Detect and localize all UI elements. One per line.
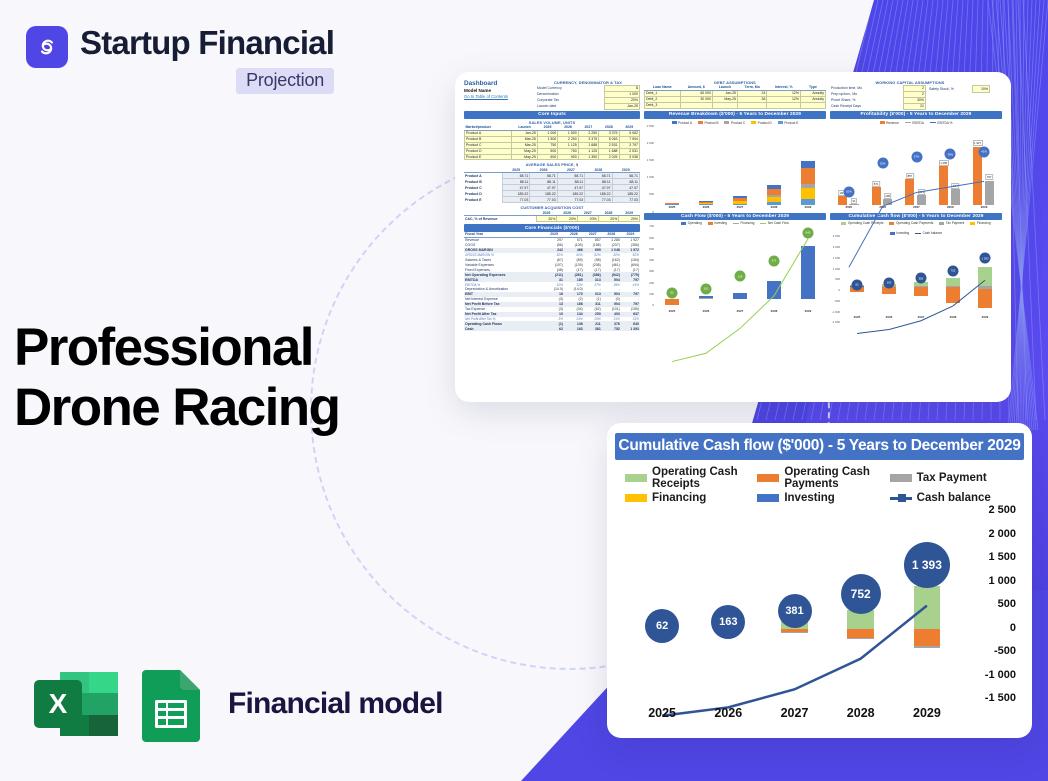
legend-item: Net Cash Flow — [760, 221, 788, 225]
volume-cell: 900 — [558, 154, 578, 160]
axis-tick: 1 000 — [833, 267, 840, 271]
axis-category: 2027 — [723, 205, 757, 212]
launch-cell: May-25 — [512, 154, 537, 160]
price-cell: 77.03 — [612, 197, 639, 203]
wc-extra-value: 10% — [973, 86, 990, 93]
axis-category: 2029 — [791, 309, 825, 316]
legend-item: Operating Cash Receipts — [625, 466, 751, 490]
legend-swatch — [760, 223, 766, 224]
table-row: Debt_3 — [645, 102, 826, 108]
value-cell: 752 — [602, 326, 621, 331]
chart-title: Cumulative Cash flow ($'000) - 5 Years t… — [615, 433, 1024, 460]
data-point-label: 752 — [841, 574, 881, 614]
debt-cell — [713, 102, 738, 108]
legend-label: Financing — [652, 492, 706, 504]
axis-tick: -1 000 — [985, 669, 1016, 681]
legend-label: Financing — [741, 221, 755, 225]
core-financials-table: Fiscal Year20252026202720282029 Revenue2… — [464, 232, 640, 331]
data-point-label: 39% — [945, 149, 956, 160]
axis-tick: 1 500 — [988, 551, 1016, 563]
axis-tick: 2 500 — [833, 234, 840, 238]
brand-lockup: Startup Financial Projection — [26, 26, 334, 94]
axis-category: 2029 — [791, 205, 825, 212]
row-label: Cash — [464, 326, 544, 331]
axis-category: 2028 — [757, 205, 791, 212]
legend-label: EBITDA % — [937, 121, 952, 125]
axis-tick: 2 500 — [988, 504, 1016, 516]
data-point-label: 32% — [877, 158, 888, 169]
product-name: Product E — [465, 154, 512, 160]
legend-swatch — [757, 494, 779, 502]
data-point-label: 41% — [979, 146, 990, 157]
legend-swatch — [778, 121, 783, 124]
legend-item: Tax Payment — [890, 466, 1016, 490]
profitability-chart: 297315711858573131 2855041 92779710%32%3… — [830, 126, 1002, 212]
wc-label: Cash Receipt Days — [830, 103, 904, 109]
cac-cell: 20% — [598, 216, 619, 222]
axis-category: 2026 — [689, 309, 723, 316]
revenue-breakdown-title: Revenue Breakdown ($'000) - 5 Years to D… — [644, 111, 826, 119]
axis-category: 2027 — [900, 205, 934, 212]
data-point-label: 371 — [769, 255, 780, 266]
bar-segment — [801, 188, 816, 199]
axis-category: 2026 — [689, 205, 723, 212]
cash-flow-title: Cash Flow ($'000) - 5 Years to December … — [644, 213, 826, 221]
legend-label: Product E — [784, 121, 798, 125]
table-row: Product E77.0377.0377.0377.0377.03 — [464, 197, 640, 203]
value-cell: 1 393 — [621, 326, 640, 331]
legend-label: Operating Cash Payments — [784, 466, 883, 490]
legend-swatch — [724, 121, 729, 124]
legend-label: Cash balance — [917, 492, 991, 504]
cac-table: 20252026202720282029 CAC, % of Revenue20… — [464, 210, 640, 222]
legend-item: Product A — [672, 121, 692, 125]
axis-category: 2025 — [655, 309, 689, 316]
data-point-label: 381 — [916, 273, 927, 284]
legend-item: Financing — [733, 221, 754, 225]
bar-segment — [801, 168, 816, 184]
data-point-label: 640 — [803, 227, 814, 238]
axis-category: 2027 — [905, 315, 937, 322]
legend-item: Product D — [751, 121, 772, 125]
axis-tick: 0 — [1010, 622, 1016, 634]
axis-tick: 300 — [649, 269, 654, 273]
axis-tick: 0 — [652, 303, 654, 307]
cac-label: CAC, % of Revenue — [464, 216, 536, 222]
volume-cell: 600 — [537, 154, 557, 160]
dashboard-screenshot-card: Dashboard Model Name Go to Table of Cont… — [455, 72, 1011, 402]
chart-plot-area: 621633817521 393 2 5002 0001 5001 000500… — [615, 510, 1024, 728]
axis-category: 2026 — [873, 315, 905, 322]
axis-tick: 600 — [649, 236, 654, 240]
axis-tick: 1 500 — [833, 256, 840, 260]
legend-item: EBITDA — [905, 121, 924, 125]
legend-label: Product B — [704, 121, 718, 125]
axis-tick: 1 000 — [988, 575, 1016, 587]
legend-label: Product C — [731, 121, 745, 125]
value-cell: 163 — [564, 326, 584, 331]
chart-bars: 621633817521 393 — [629, 514, 960, 698]
chart-legend: Operating Cash ReceiptsOperating Cash Pa… — [615, 460, 1024, 508]
legend-item: Operating Cash Payments — [757, 466, 883, 490]
axis-tick: 2 500 — [647, 124, 654, 128]
axis-category: 2026 — [695, 706, 761, 720]
axis-tick: 500 — [649, 247, 654, 251]
axis-tick: 0 — [838, 288, 840, 292]
axis-category: 2028 — [828, 706, 894, 720]
data-point-label: 101 — [701, 283, 712, 294]
axis-tick: -1 000 — [832, 310, 840, 314]
data-point-label: 1 393 — [980, 253, 991, 264]
currency-value: Jan-25 — [605, 103, 640, 109]
legend-item: Product C — [724, 121, 745, 125]
data-point-label: 37% — [911, 151, 922, 162]
axis-tick: 500 — [649, 192, 654, 196]
avg-price-table: 20252026202720282029 Product A58.7158.71… — [464, 167, 640, 203]
debt-cell — [767, 102, 801, 108]
legend-swatch — [625, 494, 647, 502]
legend-line-swatch — [890, 497, 912, 500]
legend-item: Product B — [698, 121, 719, 125]
e-loop-icon — [26, 26, 68, 68]
price-cell: 77.03 — [557, 197, 584, 203]
axis-category: 2025 — [841, 315, 873, 322]
cac-cell: 20% — [536, 216, 557, 222]
axis-category: 2027 — [761, 706, 827, 720]
legend-item: Investing — [708, 221, 727, 225]
chart-x-axis: 20252026202720282029 — [629, 700, 960, 726]
legend-swatch — [698, 121, 703, 124]
legend-swatch — [672, 121, 677, 124]
axis-tick: 400 — [649, 258, 654, 262]
legend-swatch — [733, 223, 739, 224]
legend-item: Cash balance — [890, 492, 1016, 504]
poster-canvas: Startup Financial Projection Professiona… — [0, 0, 1048, 781]
axis-tick: 500 — [998, 598, 1016, 610]
legend-label: Product D — [758, 121, 772, 125]
legend-swatch — [880, 121, 885, 124]
axis-category: 2025 — [832, 205, 866, 212]
model-name-label: Model Name — [464, 88, 532, 93]
legend-item: Financing — [625, 492, 751, 504]
table-row: Launch dateJan-25 — [536, 103, 640, 109]
axis-tick: -500 — [834, 299, 840, 303]
axis-category: 2025 — [655, 205, 689, 212]
value-cell: 381 — [584, 326, 602, 331]
axis-category: 2029 — [969, 315, 1001, 322]
revenue-breakdown-legend: Product AProduct BProduct CProduct DProd… — [644, 121, 826, 125]
data-point-label: 218 — [735, 271, 746, 282]
data-point-label: 62 — [667, 287, 678, 298]
volume-cell: 2 025 — [599, 154, 619, 160]
value-cell: 62 — [544, 326, 564, 331]
cac-cell: 20% — [557, 216, 578, 222]
axis-category: 2025 — [629, 706, 695, 720]
core-financials-bar: Core Financials ($'000) — [464, 224, 640, 232]
legend-item: EBITDA % — [930, 121, 953, 125]
cac-cell: 20% — [619, 216, 640, 222]
data-point-label: 163 — [711, 605, 745, 639]
data-point-label: 752 — [948, 265, 959, 276]
axis-category: 2027 — [723, 309, 757, 316]
legend-swatch — [708, 222, 713, 225]
cash-flow-chart: 7006005004003002001000621012183716402025… — [644, 226, 826, 316]
brand-title: Startup Financial — [80, 26, 334, 61]
legend-swatch — [751, 121, 756, 124]
product-name: Product E — [464, 197, 502, 203]
dashboard-title: Dashboard — [464, 80, 532, 87]
legend-swatch — [930, 122, 936, 123]
axis-category: 2028 — [933, 205, 967, 212]
debt-cell — [738, 102, 767, 108]
debt-cell — [680, 102, 713, 108]
axis-tick: -1 500 — [985, 692, 1016, 704]
profitability-title: Profitability ($'000) - 5 Years to Decem… — [830, 111, 1002, 119]
legend-label: Investing — [714, 221, 727, 225]
axis-tick: -1 500 — [832, 320, 840, 324]
stacked-bar — [665, 193, 680, 205]
wc-extra-label: Safety Stock, % — [928, 86, 973, 93]
microsoft-excel-icon: X — [30, 666, 122, 742]
revenue-breakdown-chart: 2 5002 0001 5001 00050002025202620272028… — [644, 126, 826, 212]
currency-label: Launch date — [536, 103, 605, 109]
legend-swatch — [625, 474, 647, 482]
cumulative-cash-flow-card: Cumulative Cash flow ($'000) - 5 Years t… — [607, 423, 1032, 738]
table-row: Cash621633817521 393 — [464, 326, 640, 331]
brand-subtitle: Projection — [236, 68, 334, 94]
stacked-bar — [767, 166, 782, 205]
data-point-label: 163 — [884, 277, 895, 288]
axis-tick: 2 000 — [988, 528, 1016, 540]
core-inputs-bar: Core Inputs — [464, 111, 640, 119]
axis-tick: 100 — [649, 292, 654, 296]
legend-swatch — [757, 474, 779, 482]
legend-label: Operating Cash Receipts — [652, 466, 751, 490]
axis-tick: 0 — [652, 210, 654, 214]
legend-label: Investing — [784, 492, 834, 504]
legend-swatch — [905, 122, 911, 123]
legend-item: Revenue — [880, 121, 899, 125]
axis-tick: 2 000 — [647, 141, 654, 145]
legend-label: Revenue — [886, 121, 899, 125]
volume-cell: 3 038 — [619, 154, 639, 160]
stacked-bar — [801, 146, 816, 204]
bar-segment — [767, 189, 782, 196]
wc-value: 21 — [904, 103, 926, 109]
google-sheets-icon — [138, 666, 208, 742]
legend-swatch — [890, 474, 912, 482]
wc-extra-table: Safety Stock, % 10% — [928, 85, 990, 93]
legend-item: Investing — [757, 492, 883, 504]
price-cell: 77.03 — [585, 197, 612, 203]
axis-category: 2028 — [757, 309, 791, 316]
data-point-label: 10% — [843, 186, 854, 197]
spreadsheet-dashboard: Dashboard Model Name Go to Table of Cont… — [461, 78, 1005, 396]
price-cell: 77.03 — [502, 197, 529, 203]
axis-tick: -500 — [994, 645, 1016, 657]
axis-category: 2026 — [866, 205, 900, 212]
table-row: CAC, % of Revenue20%20%20%20%20% — [464, 216, 640, 222]
axis-tick: 700 — [649, 224, 654, 228]
axis-category: 2029 — [894, 706, 960, 720]
legend-item: Operating — [681, 221, 702, 225]
legend-label: EBITDA — [912, 121, 924, 125]
data-point-label: 1 393 — [904, 542, 950, 588]
currency-block-table: Model Currency$Denomination1 000Corporat… — [536, 85, 640, 110]
legend-label: Product A — [678, 121, 692, 125]
axis-tick: 1 000 — [647, 175, 654, 179]
legend-item: Product E — [778, 121, 799, 125]
format-badge-label: Financial model — [228, 687, 443, 721]
cash-flow-legend: OperatingInvestingFinancingNet Cash Flow — [644, 221, 826, 225]
debt-cell — [800, 102, 825, 108]
stacked-bar — [733, 179, 748, 205]
table-row: Product EMay-256009001 3502 0253 038 — [465, 154, 640, 160]
format-badges: X Financial model — [30, 666, 443, 742]
debt-cell: Debt_3 — [645, 102, 681, 108]
sales-volume-table: Market/productLaunch20252026202720282029… — [464, 125, 640, 161]
debt-block-table: Loan NameAmount, $LaunchTerm, MoInterest… — [644, 85, 826, 109]
data-point-label: 381 — [778, 594, 812, 628]
cumulative-cash-flow-mini-chart: 2 5002 0001 5001 0005000-500-1 000-1 500… — [830, 236, 1002, 322]
table-row: Cash Receipt Days21 — [830, 103, 926, 109]
wc-block-table: Production time, Mo2Prep up/turn, Mo2Prc… — [830, 85, 926, 110]
data-point-label: 62 — [852, 279, 863, 290]
axis-tick: 1 500 — [647, 158, 654, 162]
legend-swatch — [681, 222, 686, 225]
chart-y-axis: 2 5002 0001 5001 0005000-500-1 000-1 500 — [960, 510, 1018, 698]
volume-cell: 1 350 — [578, 154, 598, 160]
axis-tick: 500 — [835, 277, 840, 281]
axis-tick: 200 — [649, 281, 654, 285]
legend-label: Operating — [688, 221, 702, 225]
page-title: Professional Drone Racing — [14, 318, 444, 438]
svg-text:X: X — [49, 688, 68, 719]
stacked-bar — [699, 187, 714, 204]
legend-label: Net Cash Flow — [768, 221, 789, 225]
axis-category: 2029 — [967, 205, 1001, 212]
axis-tick: 2 000 — [833, 245, 840, 249]
axis-category: 2028 — [937, 315, 969, 322]
legend-label: Tax Payment — [917, 472, 987, 484]
cac-cell: 20% — [577, 216, 598, 222]
data-point-label: 62 — [645, 609, 679, 643]
bar-segment — [801, 161, 816, 168]
profitability-legend: RevenueEBITDAEBITDA % — [830, 121, 1002, 125]
price-cell: 77.03 — [530, 197, 557, 203]
toc-link[interactable]: Go to Table of Contents — [464, 94, 532, 99]
